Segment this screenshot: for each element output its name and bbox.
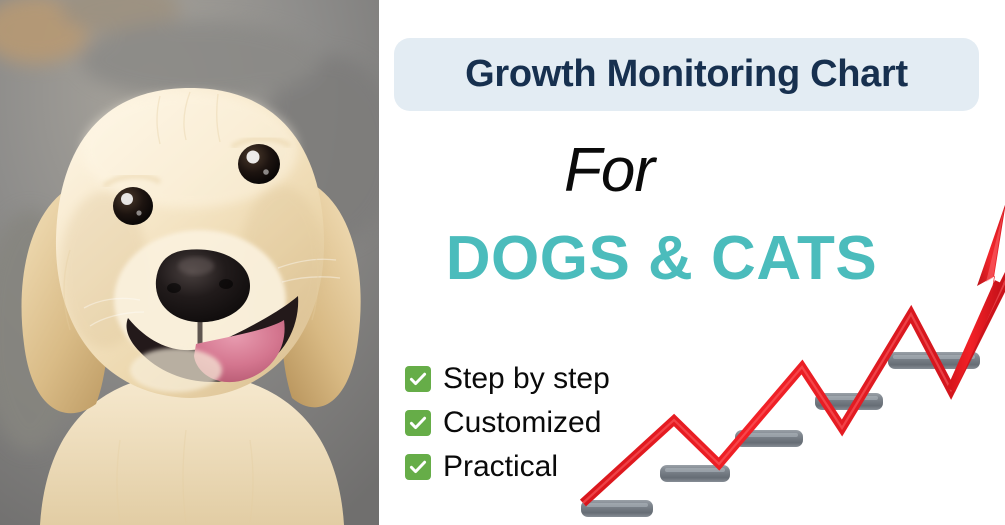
step-platform [581, 500, 653, 517]
growth-arrow-shaft [951, 282, 999, 390]
growth-line [583, 260, 1005, 503]
puppy-photo [0, 0, 379, 525]
content-panel: Growth Monitoring Chart For DOGS & CATS … [379, 0, 1005, 525]
growth-chart-graphic [559, 190, 1005, 525]
check-icon [405, 366, 431, 392]
page-title: Growth Monitoring Chart [465, 53, 908, 96]
step-platforms [581, 352, 980, 517]
puppy-photo-illustration [0, 0, 379, 525]
growth-chart-svg [559, 190, 1005, 525]
check-icon [405, 410, 431, 436]
check-icon [405, 454, 431, 480]
title-banner: Growth Monitoring Chart [394, 38, 979, 111]
feature-label: Practical [443, 452, 558, 482]
poster-canvas: Growth Monitoring Chart For DOGS & CATS … [0, 0, 1005, 525]
